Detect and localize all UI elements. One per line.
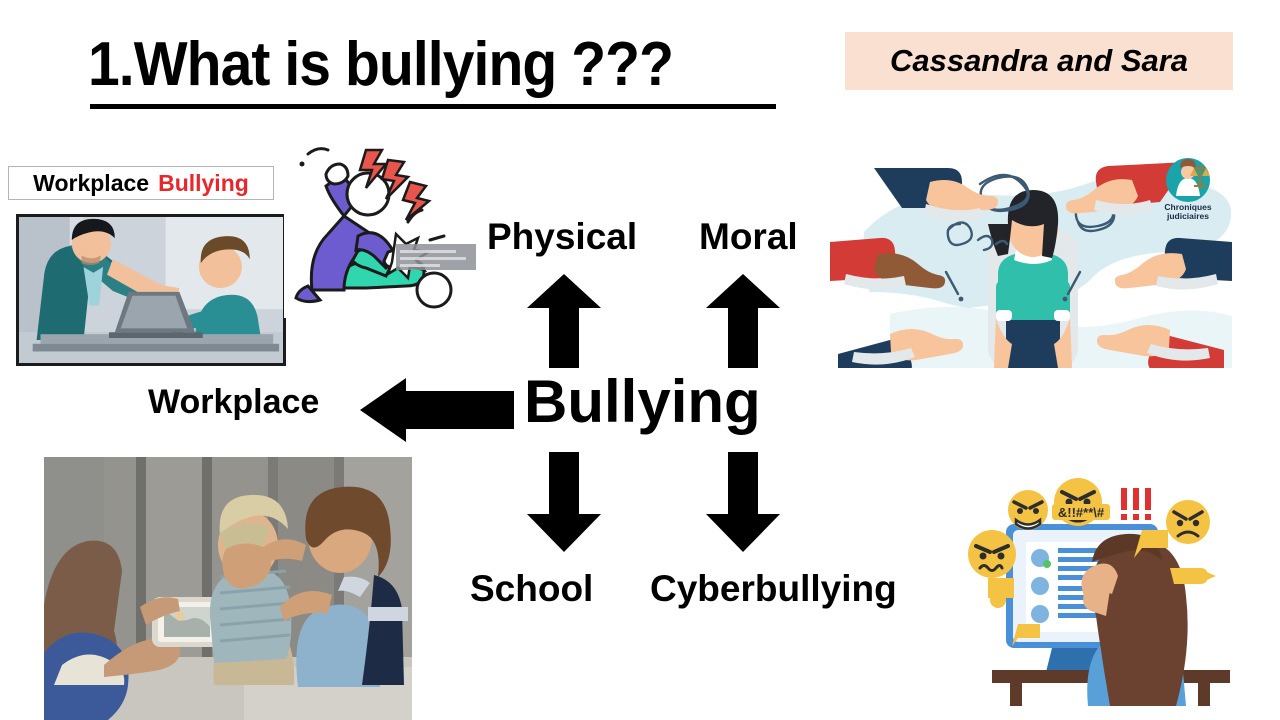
diagram-label-physical: Physical (487, 218, 637, 255)
authors-label: Cassandra and Sara (890, 43, 1188, 79)
workplace-caption: Workplace Bullying (8, 166, 274, 200)
arrow-down-icon (527, 452, 601, 552)
cyberbullying-image: &!!#**\# (966, 466, 1256, 706)
workplace-photo-frame (16, 214, 286, 366)
diagram-center-label: Bullying (524, 372, 761, 432)
angry-emoji (1008, 490, 1048, 530)
physical-bullying-image (284, 138, 478, 318)
svg-text:judiciaires: judiciaires (1166, 211, 1209, 221)
diagram-label-moral: Moral (699, 218, 798, 255)
censored-text: &!!#**\# (1058, 505, 1105, 520)
angry-emoji (1166, 500, 1210, 544)
exclamation-marks (1121, 488, 1151, 520)
page-title: 1.What is bullying ??? (88, 34, 673, 96)
workplace-image: Workplace Bullying (8, 166, 286, 366)
workplace-caption-word-1: Workplace (33, 172, 149, 195)
moral-bullying-illustration: Chroniques judiciaires (830, 146, 1232, 368)
authors-badge: Cassandra and Sara (845, 32, 1233, 90)
diagram-label-cyberbullying: Cyberbullying (650, 570, 897, 607)
workplace-caption-word-2: Bullying (158, 172, 249, 195)
arrow-up-icon (527, 274, 601, 368)
cyberbullying-illustration: &!!#**\# (966, 466, 1256, 706)
arrow-left-icon (360, 378, 514, 442)
school-bullying-photo (44, 457, 412, 720)
angry-emoji (968, 530, 1016, 578)
diagram-label-school: School (470, 570, 593, 607)
physical-bullying-illustration (284, 138, 478, 318)
school-bullying-image (44, 457, 412, 720)
moral-bullying-image: Chroniques judiciaires (830, 146, 1232, 368)
slide-canvas: 1.What is bullying ??? Cassandra and Sar… (0, 0, 1280, 720)
arrow-down-icon (706, 452, 780, 552)
chroniques-judiciaires-watermark: Chroniques judiciaires (1164, 158, 1211, 221)
diagram-label-workplace: Workplace (148, 385, 319, 419)
workplace-illustration (19, 217, 283, 363)
arrow-up-icon (706, 274, 780, 368)
title-underline (90, 104, 776, 109)
